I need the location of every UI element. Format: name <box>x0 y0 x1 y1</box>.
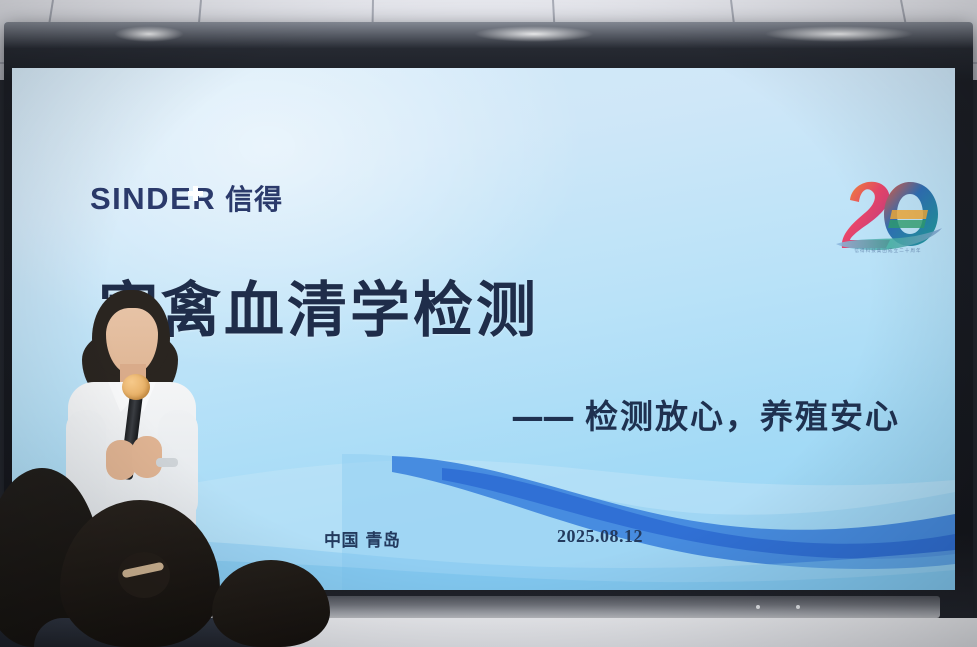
anniversary-caption: 信得科技集团成立二十周年 <box>832 248 944 254</box>
subtitle-dash: —— <box>511 397 573 436</box>
wristwatch <box>156 458 178 467</box>
slide-subtitle: ——检测放心，养殖安心 <box>511 390 900 438</box>
microphone-icon <box>122 374 150 400</box>
event-location: 中国 青岛 <box>324 526 400 551</box>
anniversary-logo: 信得科技集团成立二十周年 <box>832 170 944 270</box>
presentation-photo: SINDER 信得 <box>0 0 977 647</box>
plus-icon <box>186 184 205 203</box>
subtitle-text: 检测放心，养殖安心 <box>585 397 900 436</box>
brand-logo: SINDER 信得 <box>90 178 283 218</box>
brand-chinese-name: 信得 <box>225 178 283 218</box>
event-date: 2025.08.12 <box>557 526 643 547</box>
